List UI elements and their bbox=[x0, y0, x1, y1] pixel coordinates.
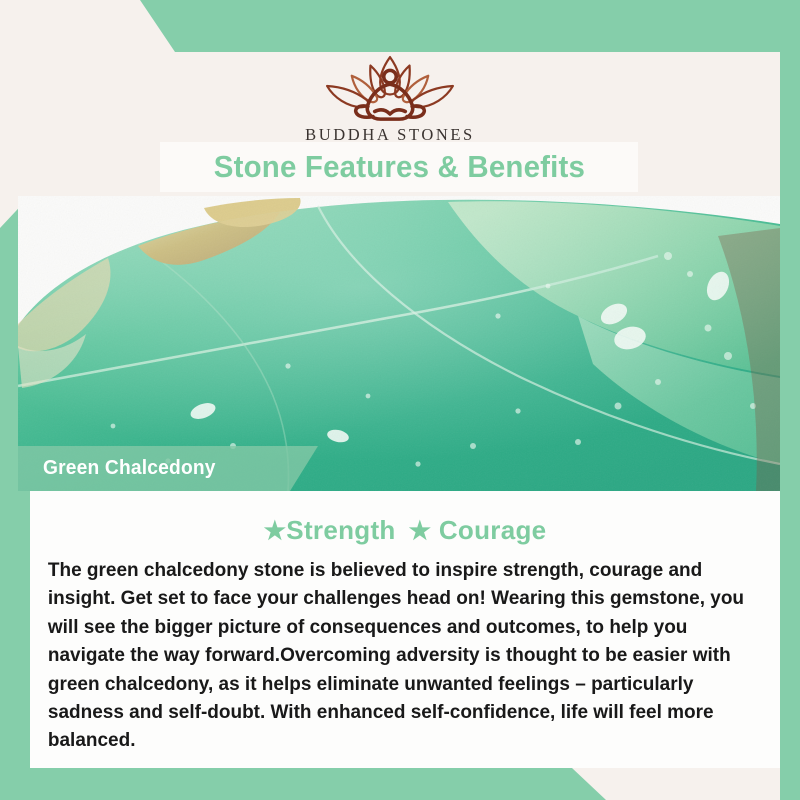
benefits-heading: ★Strength★ Courage bbox=[40, 515, 770, 546]
star-icon-courage: ★ bbox=[409, 517, 432, 545]
frame-bar-bottom bbox=[0, 768, 800, 800]
stone-name-caption: Green Chalcedony bbox=[18, 446, 318, 491]
star-icon-strength: ★ bbox=[264, 517, 287, 545]
title-banner: Stone Features & Benefits bbox=[160, 142, 638, 192]
content-panel: ★Strength★ Courage The green chalcedony … bbox=[30, 491, 780, 768]
description-text: The green chalcedony stone is believed t… bbox=[40, 557, 759, 756]
frame-bar-top bbox=[0, 0, 800, 52]
brand-header: BUDDHA STONES bbox=[0, 52, 780, 150]
benefit-label-strength: Strength bbox=[286, 515, 395, 545]
stone-name-label: Green Chalcedony bbox=[18, 457, 216, 480]
benefit-label-courage: Courage bbox=[439, 515, 547, 545]
lotus-meditating-figure-icon bbox=[305, 52, 475, 124]
page-title: Stone Features & Benefits bbox=[213, 149, 584, 185]
frame-bar-right bbox=[780, 0, 800, 800]
